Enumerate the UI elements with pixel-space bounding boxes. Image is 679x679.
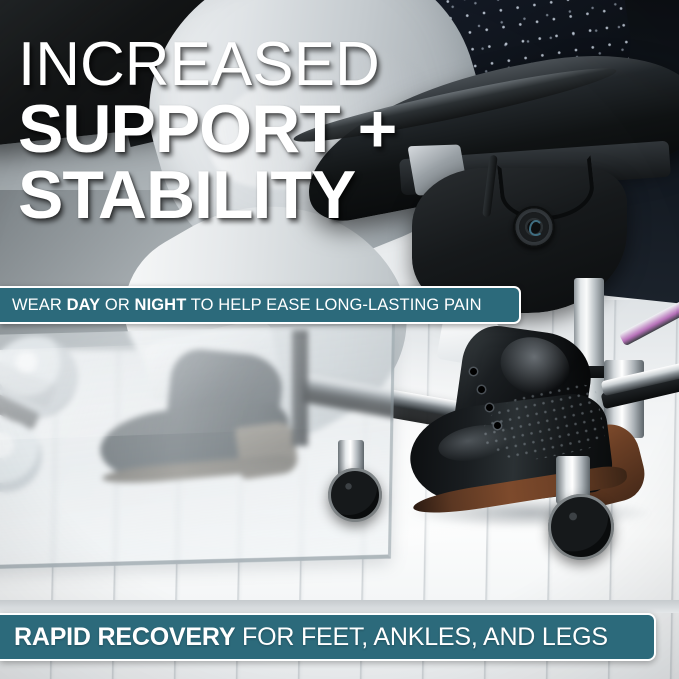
- tagline-part-3: TO HELP EASE LONG-LASTING PAIN: [186, 296, 481, 314]
- lace-eyelet: [494, 422, 501, 429]
- headline-line-3: STABILITY: [18, 164, 658, 228]
- tagline-text: WEAR DAY OR NIGHT TO HELP EASE LONG-LAST…: [12, 296, 482, 315]
- chair-caster-front: [548, 494, 614, 560]
- tagline-part-2: OR: [100, 296, 134, 314]
- glass-mat-reflection: [0, 337, 380, 442]
- lace-eyelet: [486, 404, 493, 411]
- marketing-image: INCREASED SUPPORT + STABILITY WEAR DAY O…: [0, 0, 679, 679]
- headline-block: INCREASED SUPPORT + STABILITY: [18, 36, 658, 228]
- black-leather-boot: [418, 330, 648, 520]
- bottom-banner-backdrop: [0, 600, 679, 613]
- bottom-banner-bold: RAPID RECOVERY: [14, 623, 235, 651]
- bottom-banner-text: RAPID RECOVERY FOR FEET, ANKLES, AND LEG…: [14, 623, 608, 652]
- tagline-bold-night: NIGHT: [135, 296, 187, 314]
- tagline-banner: WEAR DAY OR NIGHT TO HELP EASE LONG-LAST…: [0, 286, 521, 324]
- lace-eyelet: [470, 368, 477, 375]
- boot-laces: [466, 366, 522, 440]
- tagline-bold-day: DAY: [67, 296, 101, 314]
- headline-line-1: INCREASED: [18, 36, 658, 94]
- lace-eyelet: [478, 386, 485, 393]
- bottom-banner-rest: FOR FEET, ANKLES, AND LEGS: [235, 623, 608, 651]
- headline-line-2: SUPPORT +: [18, 98, 658, 162]
- tagline-part-1: WEAR: [12, 296, 67, 314]
- chair-caster-mid: [328, 468, 382, 522]
- bottom-banner: RAPID RECOVERY FOR FEET, ANKLES, AND LEG…: [0, 613, 656, 661]
